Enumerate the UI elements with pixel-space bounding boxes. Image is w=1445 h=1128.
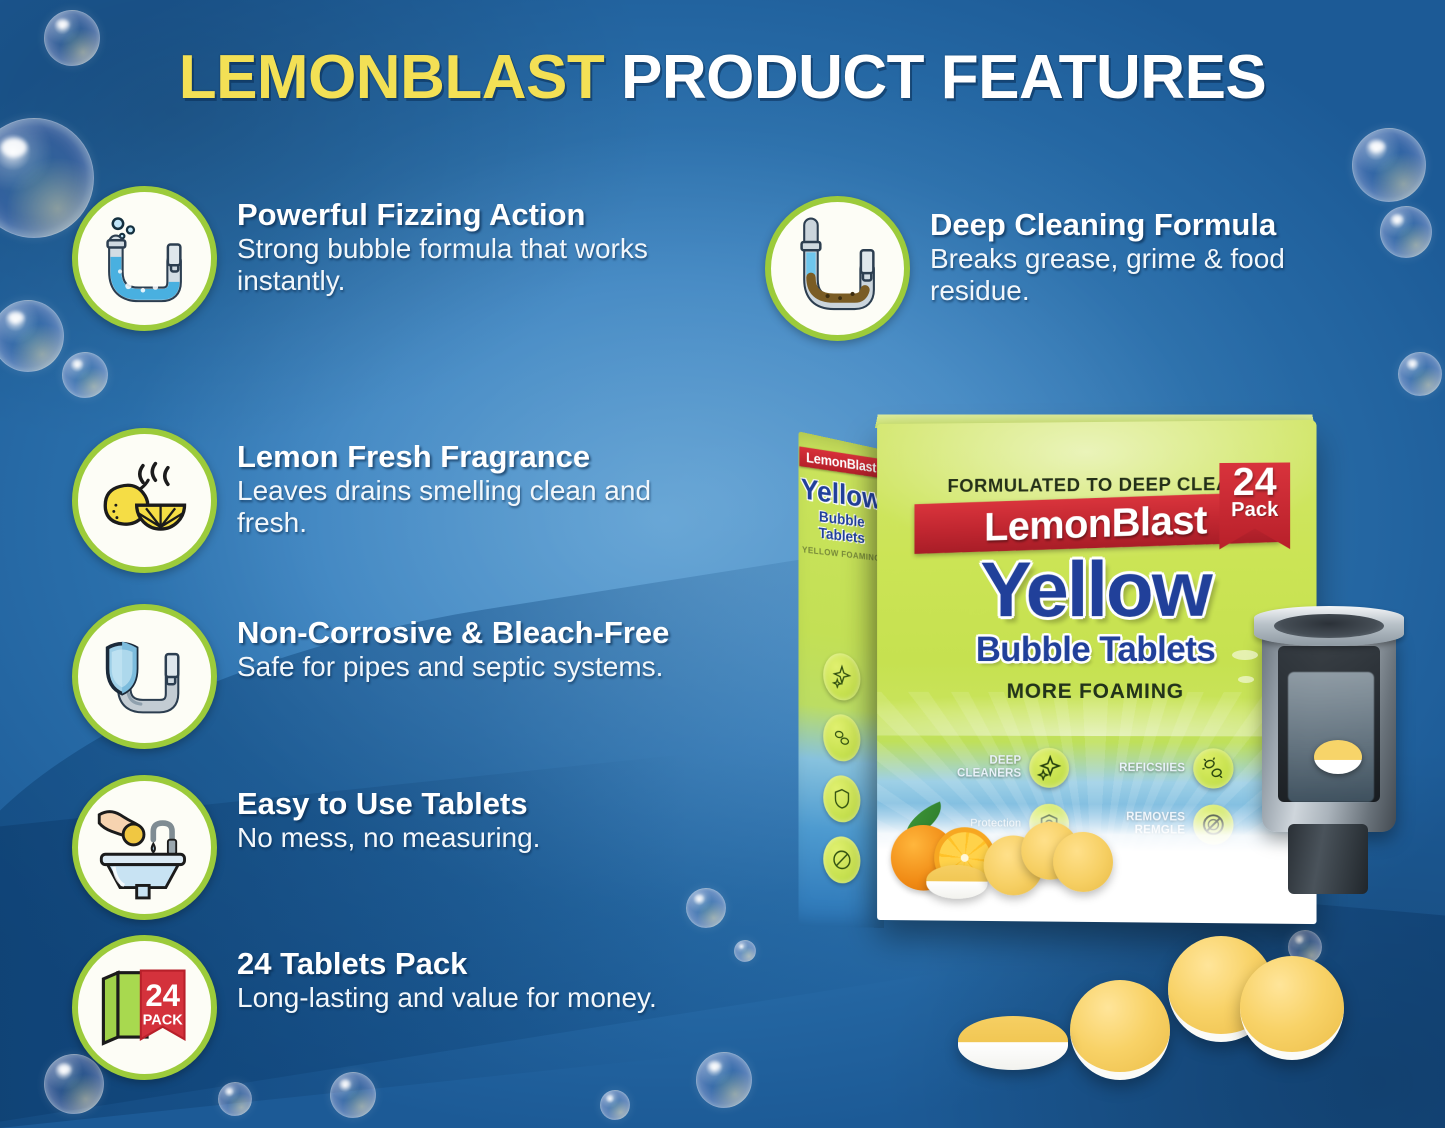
feature-text: Deep Cleaning Formula Breaks grease, gri…: [910, 196, 1360, 307]
no-germs-icon: [823, 835, 860, 884]
bubble-decor: [600, 1090, 630, 1120]
feature-title: Lemon Fresh Fragrance: [237, 440, 667, 473]
lemon-fragrance-icon: [72, 428, 217, 573]
feature-title: Easy to Use Tablets: [237, 787, 540, 820]
svg-text:PACK: PACK: [142, 1012, 183, 1028]
disposal-body: [1262, 632, 1396, 832]
feature-item-deep-cleaning: Deep Cleaning Formula Breaks grease, gri…: [765, 196, 1360, 341]
shield-pipe-icon: [72, 604, 217, 749]
tablet-foreground: [1070, 980, 1170, 1080]
feature-description: Breaks grease, grime & food residue.: [930, 243, 1360, 306]
feature-item-non-corrosive: Non-Corrosive & Bleach-Free Safe for pip…: [72, 604, 669, 749]
box-24-pack-icon: 24 PACK: [72, 935, 217, 1080]
box-badge-label-deep-cleaners: DEEPCLEANERS: [911, 755, 1028, 781]
tablet-foreground-edge: [958, 1016, 1068, 1070]
page-title: LEMONBLAST PRODUCT FEATURES: [0, 42, 1445, 113]
svg-text:24: 24: [145, 977, 180, 1012]
feature-description: No mess, no measuring.: [237, 822, 540, 854]
feature-title: Deep Cleaning Formula: [930, 208, 1360, 241]
bubble-decor: [1398, 352, 1442, 396]
garbage-disposal-unit: [1232, 606, 1422, 906]
bacteria-icon: [1193, 748, 1233, 788]
disposal-rim: [1274, 614, 1384, 638]
tablet-decor: [926, 865, 987, 899]
feature-description: Safe for pipes and septic systems.: [237, 651, 669, 683]
feature-description: Long-lasting and value for money.: [237, 982, 657, 1014]
shield-molecule-icon: [823, 774, 860, 824]
tablet-decor: [1053, 832, 1113, 892]
feature-description: Strong bubble formula that works instant…: [237, 233, 667, 296]
drain-pipe-bubbles-icon: [72, 186, 217, 331]
tablet-foreground: [1240, 956, 1344, 1060]
box-pack-unit: Pack: [1219, 499, 1290, 523]
bubble-decor: [1380, 206, 1432, 258]
feature-text: Easy to Use Tablets No mess, no measurin…: [217, 775, 540, 854]
sparkle-icon: [823, 651, 860, 702]
feature-title: Powerful Fizzing Action: [237, 198, 667, 231]
clogged-drain-pipe-icon: [765, 196, 910, 341]
feature-item-fizzing: Powerful Fizzing Action Strong bubble fo…: [72, 186, 667, 331]
bacteria-icon: [823, 712, 860, 762]
page-title-rest: PRODUCT FEATURES: [621, 43, 1266, 112]
feature-text: Non-Corrosive & Bleach-Free Safe for pip…: [217, 604, 669, 683]
feature-text: Powerful Fizzing Action Strong bubble fo…: [217, 186, 667, 297]
feature-item-24-pack: 24 PACK 24 Tablets Pack Long-lasting and…: [72, 935, 657, 1080]
box-badge-label-reficsiies: REFICSIIES: [1087, 762, 1191, 775]
box-side-panel: LemonBlast Yellow Bubble Tablets YELLOW …: [798, 431, 884, 928]
sparkle-icon: [1029, 748, 1069, 788]
infographic-canvas: LEMONBLAST PRODUCT FEATURES Powerful F: [0, 0, 1445, 1128]
bubble-decor: [0, 300, 64, 372]
bubble-decor: [62, 352, 108, 398]
feature-text: Lemon Fresh Fragrance Leaves drains smel…: [217, 428, 667, 539]
side-badge-list: [798, 633, 884, 899]
disposal-neck: [1288, 824, 1368, 894]
page-title-brand: LEMONBLAST: [179, 43, 605, 112]
feature-text: 24 Tablets Pack Long-lasting and value f…: [217, 935, 657, 1014]
water-splash: [1238, 676, 1254, 683]
water-splash: [1232, 650, 1258, 660]
bubble-decor: [1352, 128, 1426, 202]
feature-item-easy-to-use: Easy to Use Tablets No mess, no measurin…: [72, 775, 540, 920]
feature-item-fragrance: Lemon Fresh Fragrance Leaves drains smel…: [72, 428, 667, 573]
feature-title: Non-Corrosive & Bleach-Free: [237, 616, 669, 649]
feature-title: 24 Tablets Pack: [237, 947, 657, 980]
disposal-tablet: [1314, 740, 1362, 774]
product-photo: LemonBlast Yellow Bubble Tablets YELLOW …: [770, 400, 1430, 1120]
disposal-water: [1288, 672, 1374, 802]
hand-sink-tablet-icon: [72, 775, 217, 920]
feature-description: Leaves drains smelling clean and fresh.: [237, 475, 667, 538]
